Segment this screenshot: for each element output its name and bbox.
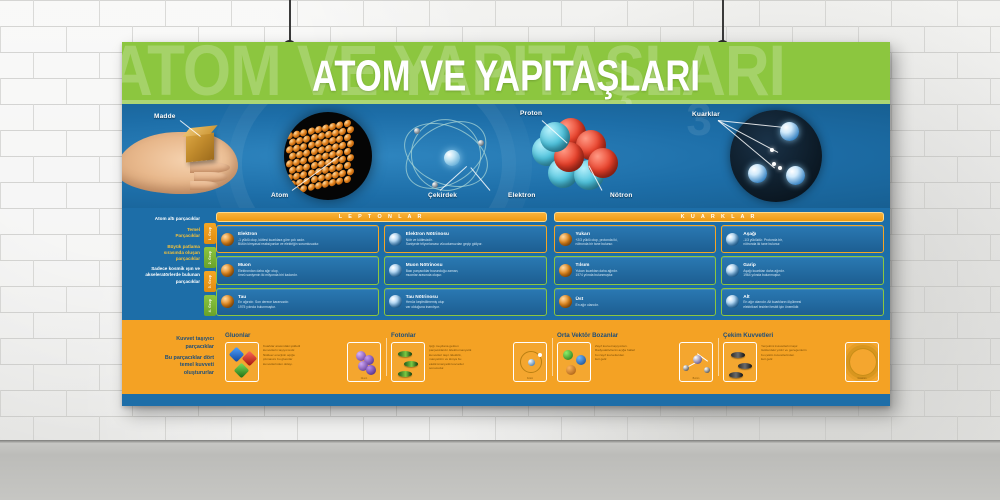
particle-ball-icon (726, 295, 739, 308)
particle-ball-icon (726, 233, 739, 246)
legend-top-label: Atom altı parçacıklar (122, 216, 204, 222)
mini-caption: Graviton (846, 377, 878, 380)
group-tab-1-label: 1. Grup (208, 227, 212, 240)
boson-balls-icon (557, 342, 591, 382)
particle-desc: +2/3 yüklü olup, protonda iki, nötronda … (576, 238, 712, 247)
particle-desc: Henüz keşfedilmemiş olup var olduğuna in… (406, 300, 542, 309)
particle-cell[interactable]: Elektron Nötrinosu Nötr ve kütlesizdir. … (384, 225, 547, 253)
band-lead-line2: Bu parçacıklar dört temel kuvveti oluştu… (128, 355, 214, 378)
nucleus-cluster (526, 114, 630, 200)
boson-decay-icon: Bozon (679, 342, 713, 382)
particle-cell[interactable]: Yukarı +2/3 yüklü olup, protonda iki, nö… (554, 225, 717, 253)
quark-ball (780, 122, 799, 141)
table-kuarklar-rows: Yukarı +2/3 yüklü olup, protonda iki, nö… (554, 225, 885, 316)
group-tabs: 1. Grup 2. Grup 3. Grup 4. Grup (204, 212, 216, 316)
table-row: Yukarı +2/3 yüklü olup, protonda iki, nö… (554, 225, 885, 253)
particle-ball-icon (221, 264, 234, 277)
particle-cell[interactable]: Muon Elektrondan daha ağır olup, ömrü sa… (216, 256, 379, 284)
group-tab-3-label: 3. Grup (208, 275, 212, 288)
table-leptonlar: L E P T O N L A R Elektron -1 yüklü olup… (216, 212, 547, 316)
label-kuarklar: Kuarklar (692, 111, 720, 118)
particle-ball-icon (559, 233, 572, 246)
table-kuarklar-header: K U A R K L A R (554, 212, 885, 222)
floor (0, 440, 1000, 500)
photon-discs-icon (391, 342, 425, 382)
label-cekirdek: Çekirdek (428, 192, 457, 199)
particle-ball-icon (221, 295, 234, 308)
group-tab-4[interactable]: 4. Grup (204, 295, 216, 316)
particle-desc: Aşağı kuarktan daha ağırdır. 1964 yılınd… (743, 269, 879, 278)
electron-dot (478, 140, 484, 146)
group-tab-4-label: 4. Grup (208, 299, 212, 312)
particle-cell[interactable]: Tılsım Yukarı kuarktan daha ağırdır. 197… (554, 256, 717, 284)
poster-banner: ATOM VE YAPITAŞLARI ATOM VE YAPITAŞLARI (122, 42, 890, 104)
particle-ball-icon (389, 264, 402, 277)
particle-desc: Nötr ve kütlesizdir. Saniyede trilyonlar… (406, 238, 542, 247)
band-lead-line1: Kuvvet taşıyıcı parçacıklar (128, 336, 214, 352)
label-madde: Madde (154, 113, 176, 120)
group-tab-1[interactable]: 1. Grup (204, 223, 216, 244)
particle-desc: -1 yüklü olup, kütlesi kuarklara göre ço… (238, 238, 374, 247)
particle-ball-icon (726, 264, 739, 277)
group-tab-2-label: 2. Grup (208, 251, 212, 264)
particle-cell[interactable]: Tau Nötrinosu Henüz keşfedilmemiş olup v… (384, 288, 547, 316)
table-leptonlar-header: L E P T O N L A R (216, 212, 547, 222)
force-group-title: Gluonlar (225, 332, 381, 339)
particle-desc: -1/3 yüklüdür. Protonda bir, nötronda ik… (743, 238, 879, 247)
table-row: Tau En ağırıdır. Son derece kararsızdır.… (216, 288, 547, 316)
legend-row-2: Büyük patlama sırasında oluşan parçacıkl… (122, 244, 204, 263)
particle-desc: Bazı parçacıklar bozunduğu zaman, muonla… (406, 269, 542, 278)
particle-cell[interactable]: Muon Nötrinosu Bazı parçacıklar bozunduğ… (384, 256, 547, 284)
particle-tables-section: Atom altı parçacıklar Temel Parçacıklar … (122, 208, 890, 320)
force-group-desc: Zayıf kuvvet taşıyıcıları. Radyoaktivite… (595, 342, 675, 382)
page-title: ATOM VE YAPITAŞLARI (137, 50, 874, 101)
particle-cell[interactable]: Garip Aşağı kuarktan daha ağırdır. 1964 … (721, 256, 884, 284)
particle-ball-icon (559, 295, 572, 308)
floor-wall-join (0, 440, 1000, 443)
label-atom: Atom (271, 192, 288, 199)
group-tab-2[interactable]: 2. Grup (204, 247, 216, 268)
force-group-fotonlar: Fotonlar Işığı meydana getiren parçacıkl… (386, 332, 552, 382)
particle-ball-icon (389, 233, 402, 246)
particle-cell[interactable]: Aşağı -1/3 yüklüdür. Protonda bir, nötro… (721, 225, 884, 253)
force-group-desc: Işığı meydana getiren parçacıklardır. El… (429, 342, 509, 382)
table-row: Üst En ağır olanıdır. Alt En ağır olanıd… (554, 288, 885, 316)
gravity-spiral-icon: Graviton (845, 342, 879, 382)
table-row: Tılsım Yukarı kuarktan daha ağırdır. 197… (554, 256, 885, 284)
table-row: Elektron -1 yüklü olup, kütlesi kuarklar… (216, 225, 547, 253)
scene: ATOM VE YAPITAŞLARI ATOM VE YAPITAŞLARI … (0, 0, 1000, 500)
graviton-discs-icon (723, 342, 757, 382)
hand-illustration (122, 132, 238, 194)
particle-desc: En ağır olanıdır. (576, 303, 712, 307)
legend-column: Atom altı parçacıklar Temel Parçacıklar … (122, 212, 204, 316)
force-group-title: Orta Vektör Bozanlar (557, 332, 713, 339)
force-group-title: Fotonlar (391, 332, 547, 339)
group-tab-3[interactable]: 3. Grup (204, 271, 216, 292)
particle-ball-icon (221, 233, 234, 246)
gluon-cluster-icon: Gluon (347, 342, 381, 382)
force-group-desc: Kuarklar arasındaki şiddetli kuvvetlerin… (263, 342, 343, 382)
mini-caption: Foton (514, 377, 546, 380)
particle-desc: Elektrondan daha ağır olup, ömrü saniyen… (238, 269, 374, 278)
force-group-gluonlar: Gluonlar Kuarklar arasındaki şiddetli ku… (220, 332, 386, 382)
photon-atom-icon: Foton (513, 342, 547, 382)
force-group-title: Çekim Kuvvetleri (723, 332, 879, 339)
poster: ATOM VE YAPITAŞLARI ATOM VE YAPITAŞLARI … (122, 42, 890, 406)
force-group-desc: Yerçekimi kuvvetlerini taşır. Göklerdeki… (761, 342, 841, 382)
particle-desc: Yukarı kuarktan daha ağırdır. 1974 yılın… (576, 269, 712, 278)
electron-dot (432, 182, 438, 188)
atom-lattice (286, 119, 352, 197)
force-group-orta-vektor-bozanlar: Orta Vektör Bozanlar Zayıf kuvvet taşıyı… (552, 332, 718, 382)
force-carriers-band: Kuvvet taşıyıcı parçacıklar Bu parçacıkl… (122, 320, 890, 394)
gluon-diamonds-icon (225, 342, 259, 382)
table-row: Muon Elektrondan daha ağır olup, ömrü sa… (216, 256, 547, 284)
electron-dot (414, 128, 420, 134)
particle-desc: En ağır olanıdır. Alt kuarkların ölçülme… (743, 300, 879, 309)
force-group-cekim-kuvvetleri: Çekim Kuvvetleri Yerçekimi kuvvetlerini … (718, 332, 884, 382)
particle-ball-icon (389, 295, 402, 308)
label-notron: Nötron (610, 192, 633, 199)
table-leptonlar-rows: Elektron -1 yüklü olup, kütlesi kuarklar… (216, 225, 547, 316)
nucleus-icon (444, 150, 460, 166)
quark-ball (748, 164, 767, 183)
band-lead-text: Kuvvet taşıyıcı parçacıklar Bu parçacıkl… (128, 336, 220, 378)
orbital-atom-diagram (394, 110, 498, 202)
particle-cell[interactable]: Üst En ağır olanıdır. (554, 288, 717, 316)
particle-cell[interactable]: Alt En ağır olanıdır. Alt kuarkların ölç… (721, 288, 884, 316)
quark-ball (786, 166, 805, 185)
particle-ball-icon (559, 264, 572, 277)
hero-diagram: 3 Madde Atom (122, 104, 890, 208)
legend-row-3: Sadece kosmik ışın ve akseleratörlerde b… (122, 266, 204, 285)
particle-cell[interactable]: Elektron -1 yüklü olup, kütlesi kuarklar… (216, 225, 379, 253)
particle-cell[interactable]: Tau En ağırıdır. Son derece kararsızdır.… (216, 288, 379, 316)
table-kuarklar: K U A R K L A R Yukarı +2/3 yüklü olup, … (554, 212, 885, 316)
label-proton: Proton (520, 110, 542, 117)
gluon-dot (778, 166, 782, 170)
particle-desc: En ağırıdır. Son derece kararsızdır. 197… (238, 300, 374, 309)
legend-row-1: Temel Parçacıklar (122, 227, 204, 239)
mini-caption: Bozon (680, 377, 712, 380)
mini-caption: Gluon (348, 377, 380, 380)
